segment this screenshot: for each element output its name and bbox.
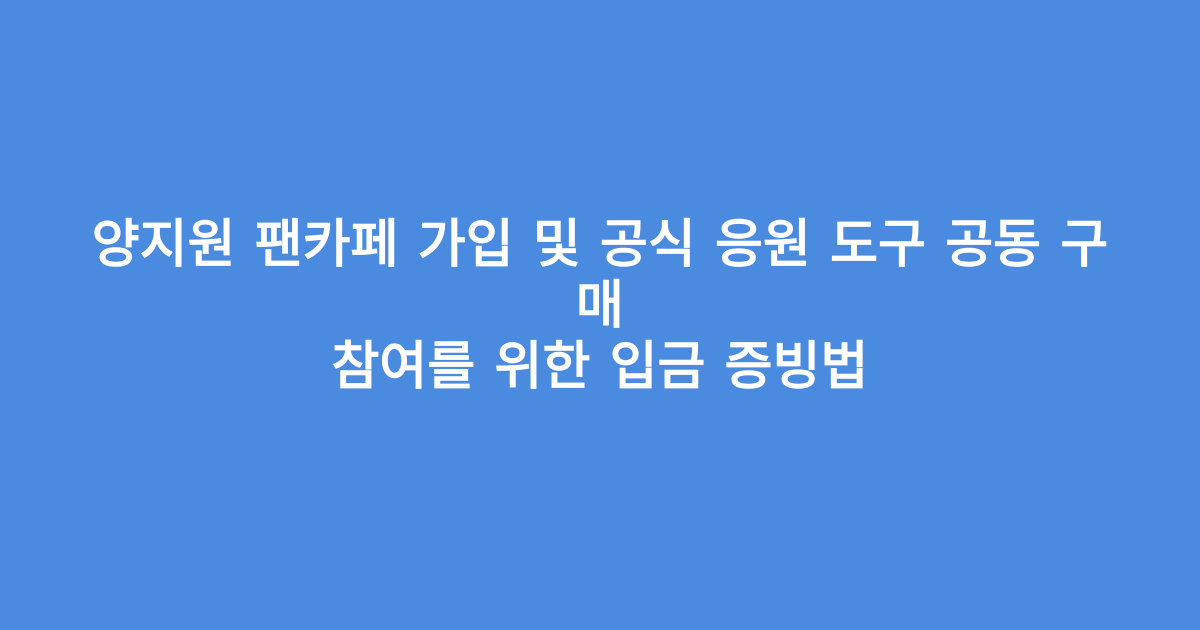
page-title: 양지원 팬카페 가입 및 공식 응원 도구 공동 구매 참여를 위한 입금 증빙…	[80, 215, 1120, 398]
og-title-card: 양지원 팬카페 가입 및 공식 응원 도구 공동 구매 참여를 위한 입금 증빙…	[0, 0, 1200, 630]
headline-block: 양지원 팬카페 가입 및 공식 응원 도구 공동 구매 참여를 위한 입금 증빙…	[70, 215, 1130, 398]
